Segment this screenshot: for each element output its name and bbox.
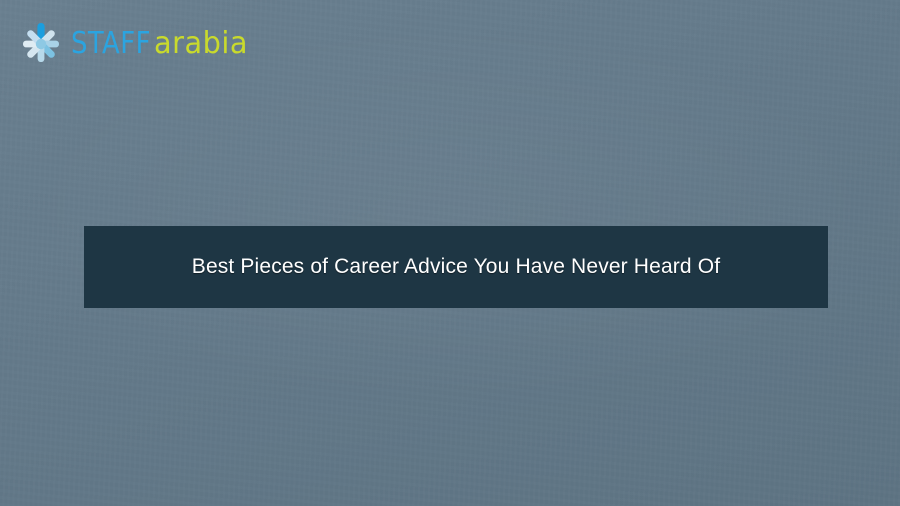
title-banner: Best Pieces of Career Advice You Have Ne… <box>84 226 828 308</box>
brand-name-secondary: arabia <box>154 29 248 59</box>
brand-logo[interactable]: STAFF arabia <box>17 20 252 68</box>
presentation-slide: STAFF arabia Best Pieces of Career Advic… <box>0 0 900 506</box>
snowflake-asterisk-icon <box>17 20 65 68</box>
brand-name-primary: STAFF <box>71 29 151 59</box>
slide-title: Best Pieces of Career Advice You Have Ne… <box>192 255 720 279</box>
brand-wordmark: STAFF arabia <box>71 29 252 59</box>
